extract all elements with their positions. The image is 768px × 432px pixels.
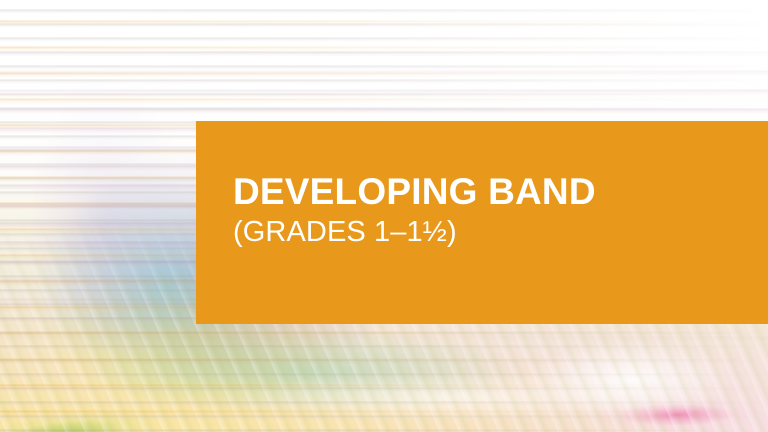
slide-subtitle: (GRADES 1–1½) <box>233 218 733 247</box>
slide-canvas: DEVELOPING BAND (GRADES 1–1½) <box>0 0 768 432</box>
slide-title: DEVELOPING BAND <box>233 173 733 210</box>
title-banner: DEVELOPING BAND (GRADES 1–1½) <box>196 121 768 324</box>
title-block: DEVELOPING BAND (GRADES 1–1½) <box>233 173 733 247</box>
